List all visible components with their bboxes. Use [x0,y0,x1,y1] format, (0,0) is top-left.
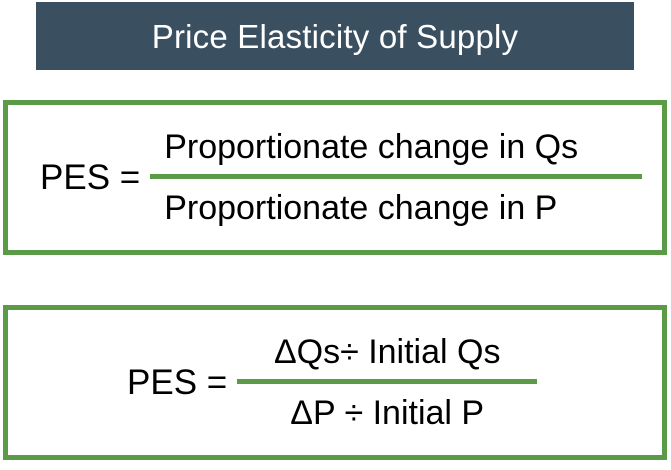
fraction: ΔQs÷ Initial Qs ΔP ÷ Initial P [237,335,537,430]
fraction-denominator: Proportionate change in P [150,179,642,225]
fraction-numerator: ΔQs÷ Initial Qs [237,335,537,379]
slide-canvas: Price Elasticity of Supply PES = Proport… [0,0,671,470]
pes-label: PES = [127,365,227,400]
fraction: Proportionate change in Qs Proportionate… [150,130,642,225]
formula-card-proportionate: PES = Proportionate change in Qs Proport… [3,100,667,255]
fraction-numerator: Proportionate change in Qs [150,130,642,174]
slide-title-bar: Price Elasticity of Supply [36,2,634,70]
fraction-denominator: ΔP ÷ Initial P [237,384,537,430]
page-title: Price Elasticity of Supply [152,20,519,53]
formula-row: PES = ΔQs÷ Initial Qs ΔP ÷ Initial P [8,310,662,455]
formula-card-delta: PES = ΔQs÷ Initial Qs ΔP ÷ Initial P [3,305,667,460]
pes-label: PES = [40,160,140,195]
formula-row: PES = Proportionate change in Qs Proport… [8,105,662,250]
